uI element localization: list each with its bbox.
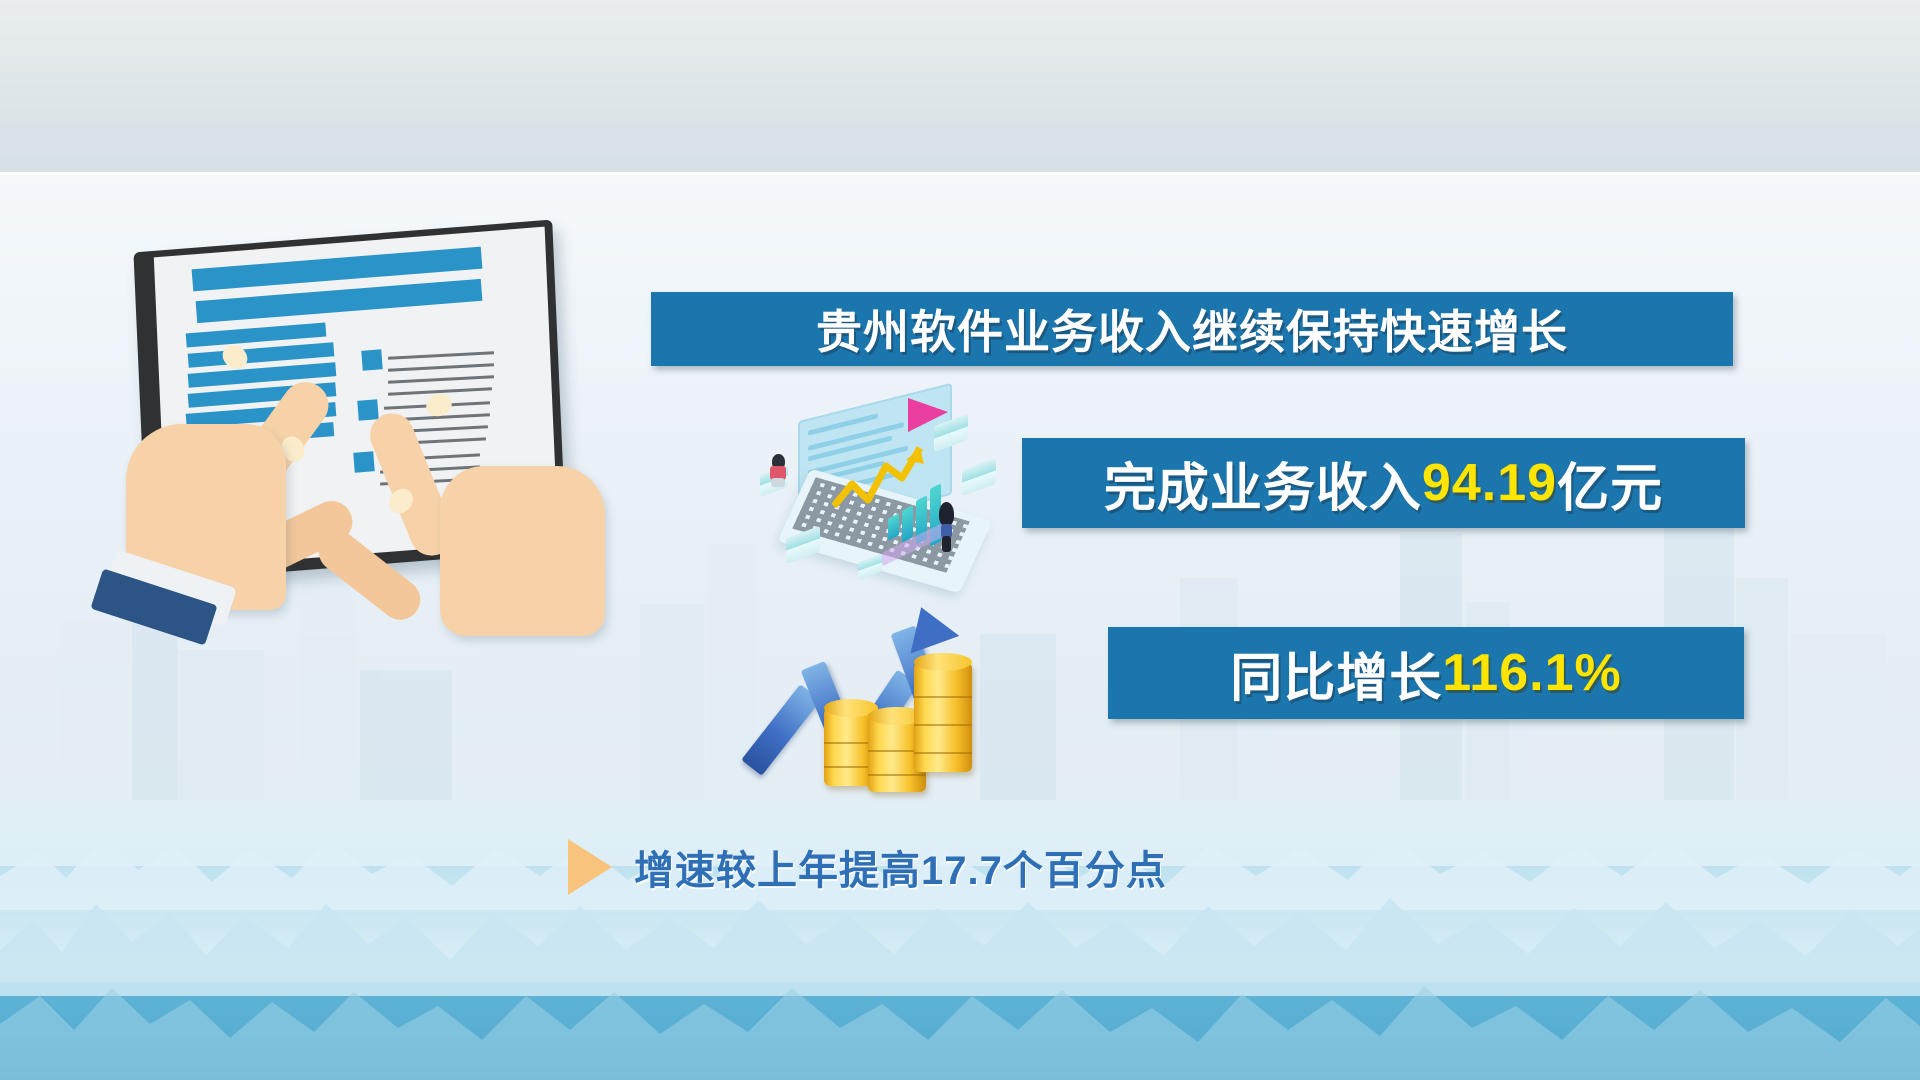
footnote-text: 增速较上年提高17.7个百分点 bbox=[634, 838, 1167, 896]
isometric-laptop-chart-icon bbox=[742, 398, 1032, 598]
background-panel-highlight bbox=[0, 172, 1920, 175]
headline-text: 贵州软件业务收入继续保持快速增长 bbox=[816, 296, 1568, 362]
person-standing-figure bbox=[936, 502, 956, 554]
stat-growth-prefix: 同比增长 bbox=[1230, 636, 1442, 711]
triangle-right-icon bbox=[568, 839, 612, 895]
person-sitting-figure bbox=[768, 454, 790, 488]
stat-banner-revenue: 完成业务收入94.19亿元 bbox=[1022, 438, 1745, 528]
headline-banner: 贵州软件业务收入继续保持快速增长 bbox=[651, 292, 1733, 366]
coins-growth-arrow-icon bbox=[762, 600, 1062, 810]
stat-revenue-suffix: 亿元 bbox=[1557, 446, 1663, 521]
hands-tablet-document-icon bbox=[100, 228, 620, 628]
footnote-row: 增速较上年提高17.7个百分点 bbox=[568, 838, 1167, 896]
stat-growth-value: 116.1 bbox=[1442, 643, 1574, 703]
foliage-layer-front bbox=[0, 952, 1920, 1080]
stat-revenue-prefix: 完成业务收入 bbox=[1104, 446, 1422, 521]
infographic-stage: 贵州软件业务收入继续保持快速增长 完成业务收入94.19亿元 同比增长116.1… bbox=[0, 0, 1920, 1080]
stat-growth-suffix: % bbox=[1575, 643, 1622, 703]
background-top-band bbox=[0, 0, 1920, 172]
coin-stack-right bbox=[914, 662, 972, 772]
stat-banner-growth: 同比增长116.1% bbox=[1108, 627, 1744, 719]
stat-revenue-value: 94.19 bbox=[1422, 453, 1557, 513]
yellow-trend-line-icon bbox=[832, 444, 928, 514]
